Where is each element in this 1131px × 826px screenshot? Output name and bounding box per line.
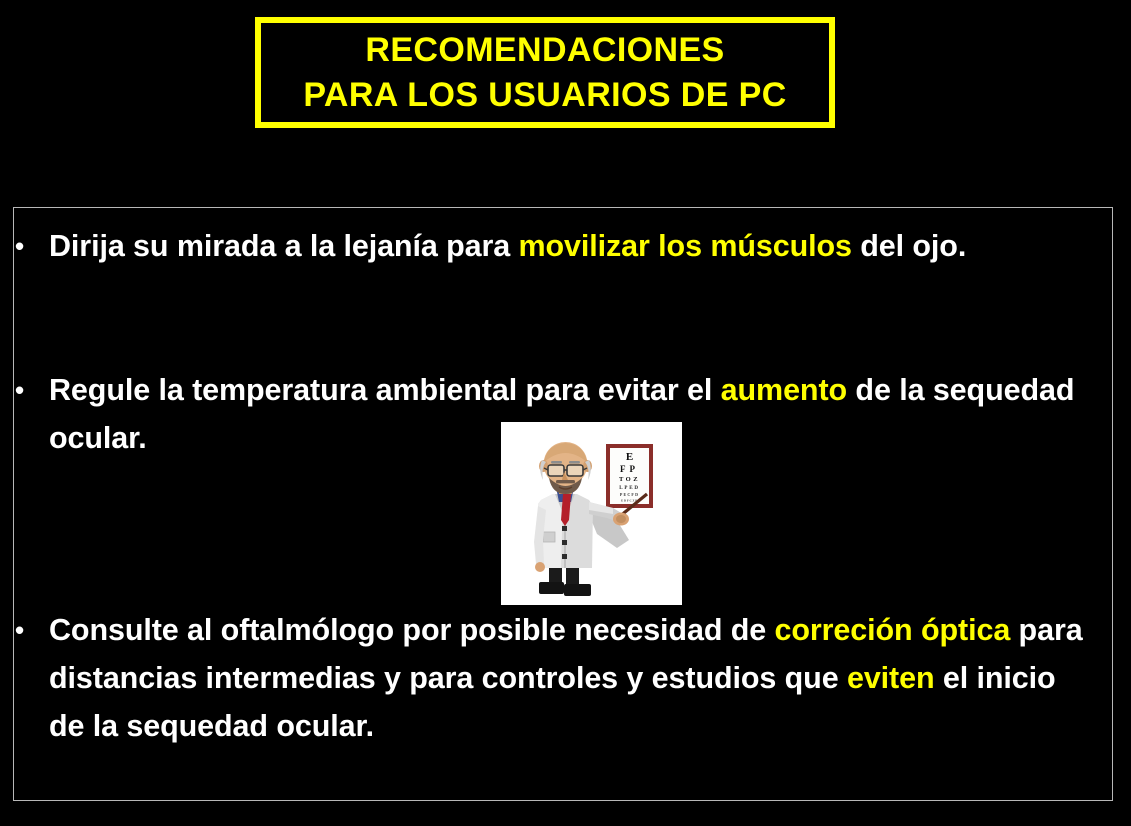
svg-text:E: E — [626, 451, 633, 463]
bullet-1-seg-2: del ojo. — [852, 229, 966, 263]
snellen-eye-chart: E FP TOZ LPED PECFD EDFCZP — [606, 444, 653, 508]
ophthalmologist-illustration: E FP TOZ LPED PECFD EDFCZP — [501, 422, 682, 605]
slide-title-line-1: RECOMENDACIONES — [365, 28, 724, 73]
svg-text:LPED: LPED — [619, 486, 640, 491]
bullet-2-seg-0: Regule la temperatura ambiental para evi… — [49, 373, 721, 407]
svg-text:TOZ: TOZ — [619, 476, 640, 483]
svg-text:FP: FP — [620, 464, 639, 474]
slide-title-box: RECOMENDACIONES PARA LOS USUARIOS DE PC — [255, 17, 835, 128]
slide-title-line-2: PARA LOS USUARIOS DE PC — [303, 73, 786, 118]
bullet-item-3: • Consulte al oftalmólogo por posible ne… — [15, 606, 1095, 750]
bullet-text-1: Dirija su mirada a la lejanía para movil… — [49, 222, 1095, 270]
bullet-marker-2: • — [15, 366, 41, 414]
bullet-1-seg-0: Dirija su mirada a la lejanía para — [49, 229, 518, 263]
bullet-marker-3: • — [15, 606, 41, 654]
bullet-2-seg-1-highlight: aumento — [721, 373, 847, 407]
bullet-item-1: • Dirija su mirada a la lejanía para mov… — [15, 222, 1095, 270]
bullet-text-3: Consulte al oftalmólogo por posible nece… — [49, 606, 1095, 750]
svg-text:PECFD: PECFD — [620, 492, 639, 497]
bullet-3-seg-0: Consulte al oftalmólogo por posible nece… — [49, 613, 775, 647]
left-hand — [535, 562, 545, 572]
bullet-1-seg-1-highlight: movilizar los músculos — [518, 229, 851, 263]
bullet-3-seg-1-highlight: correción óptica — [775, 613, 1011, 647]
ophthalmologist-clipart-image: E FP TOZ LPED PECFD EDFCZP — [501, 422, 682, 605]
bullet-marker-1: • — [15, 222, 41, 270]
bullet-3-seg-3-highlight: eviten — [847, 661, 935, 695]
